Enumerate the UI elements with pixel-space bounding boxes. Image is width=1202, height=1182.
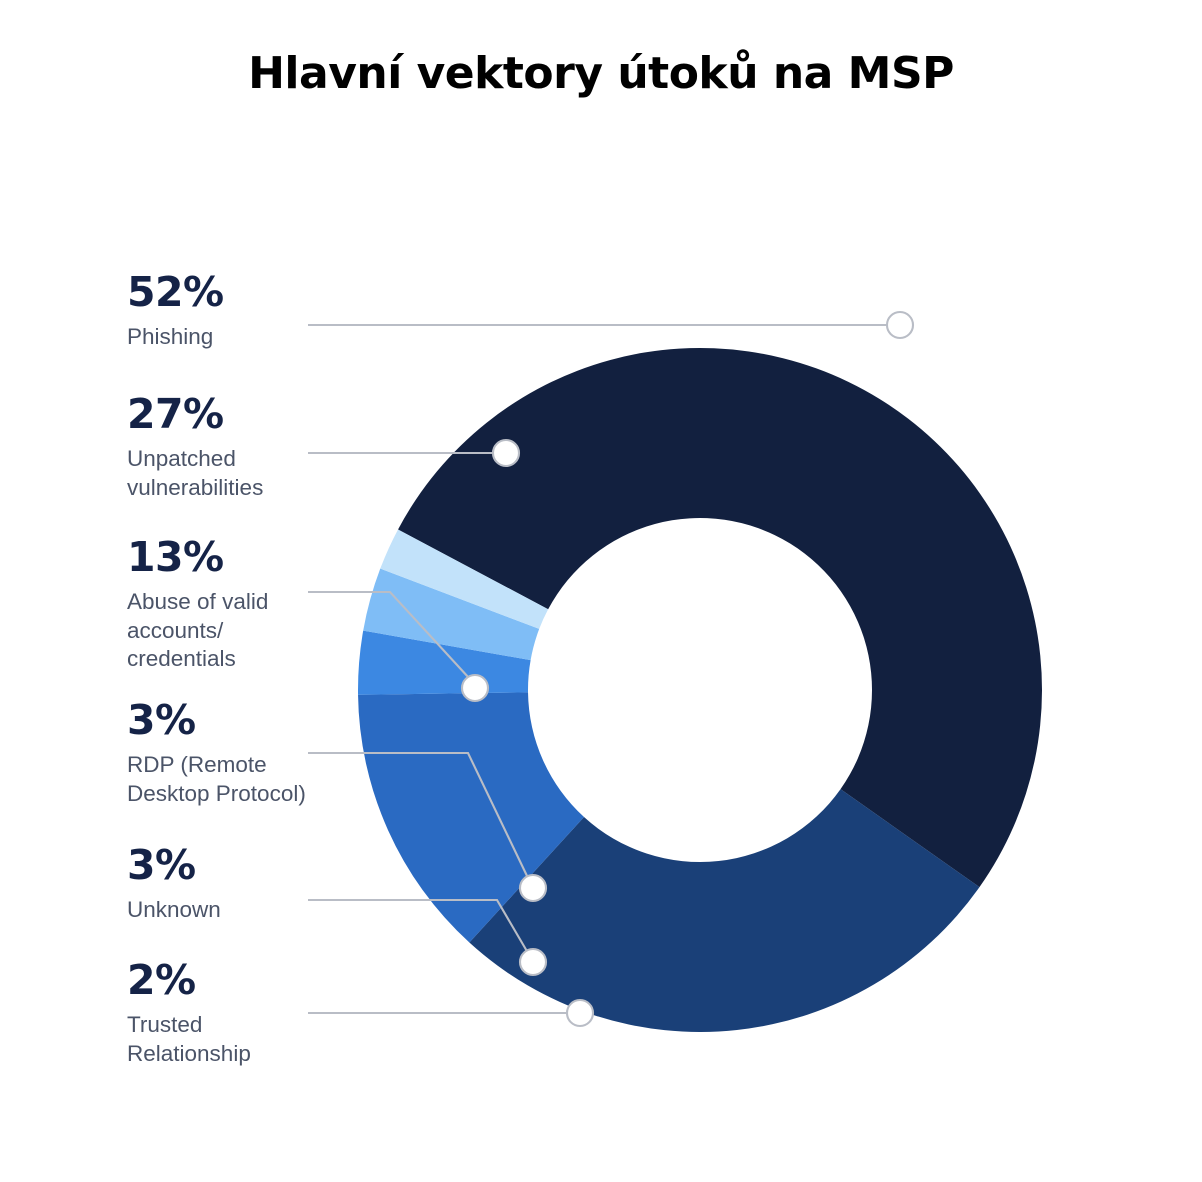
marker-abuse-of-valid-accounts [462,675,488,701]
legend-item-phishing[interactable]: 52% Phishing [127,272,224,352]
legend-label: Unpatched vulnerabilities [127,445,263,502]
legend-item-abuse-of-valid-accounts[interactable]: 13% Abuse of valid accounts/ credentials [127,537,268,674]
legend-percent: 3% [127,845,221,886]
legend-percent: 2% [127,960,251,1001]
legend-label: Trusted Relationship [127,1011,251,1068]
legend-item-unknown[interactable]: 3% Unknown [127,845,221,925]
marker-phishing [887,312,913,338]
legend-percent: 27% [127,394,263,435]
legend-label: Unknown [127,896,221,925]
legend-item-unpatched-vulnerabilities[interactable]: 27% Unpatched vulnerabilities [127,394,263,502]
legend-percent: 13% [127,537,268,578]
marker-rdp [520,875,546,901]
marker-trusted-relationship [567,1000,593,1026]
marker-unpatched-vulnerabilities [493,440,519,466]
legend-label: Abuse of valid accounts/ credentials [127,588,268,674]
legend-label: Phishing [127,323,224,352]
legend-item-trusted-relationship[interactable]: 2% Trusted Relationship [127,960,251,1068]
legend-percent: 52% [127,272,224,313]
marker-unknown [520,949,546,975]
legend-item-rdp[interactable]: 3% RDP (Remote Desktop Protocol) [127,700,306,808]
legend-percent: 3% [127,700,306,741]
donut-slices [358,348,1042,1032]
legend-label: RDP (Remote Desktop Protocol) [127,751,306,808]
